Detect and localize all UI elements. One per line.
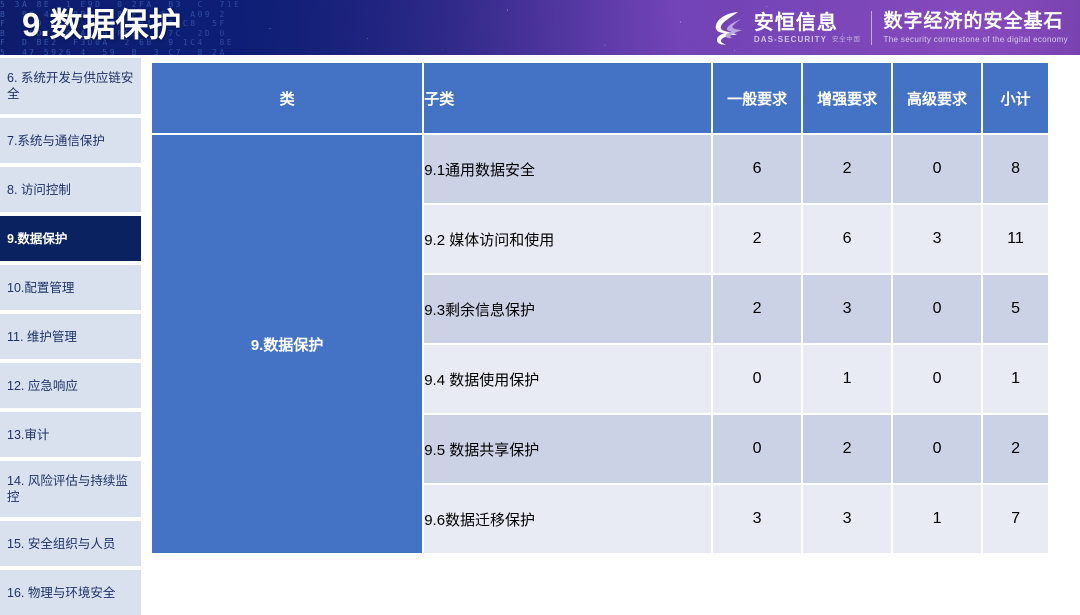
- table-header: 类 子类 一般要求 增强要求 高级要求 小计: [152, 63, 1048, 133]
- brand-slogan-en: The security cornerstone of the digital …: [883, 34, 1068, 45]
- cell-enhanced: 2: [803, 415, 891, 483]
- sidebar-nav: 6. 系统开发与供应链安全7.系统与通信保护8. 访问控制9.数据保护10.配置…: [0, 58, 141, 601]
- sidebar-item-label: 15. 安全组织与人员: [7, 536, 115, 552]
- sidebar-item-8[interactable]: 8. 访问控制: [0, 167, 141, 212]
- column-header-subtotal: 小计: [983, 63, 1048, 133]
- cell-enhanced: 1: [803, 345, 891, 413]
- sidebar-item-label: 9.数据保护: [7, 231, 67, 247]
- cell-enhanced: 3: [803, 485, 891, 553]
- brand-name-en: DAS-SECURITY: [754, 35, 827, 45]
- cell-advanced: 0: [893, 275, 981, 343]
- cell-general: 0: [713, 345, 801, 413]
- sidebar-item-label: 10.配置管理: [7, 280, 74, 296]
- cell-general: 0: [713, 415, 801, 483]
- das-security-logo-icon: [711, 10, 745, 46]
- table-row: 9.数据保护9.1通用数据安全6208: [152, 135, 1048, 203]
- cell-subcategory: 9.5 数据共享保护: [424, 415, 711, 483]
- cell-subtotal: 7: [983, 485, 1048, 553]
- category-merged-cell: 9.数据保护: [152, 135, 422, 553]
- brand-subtitle-row: DAS-SECURITY 安全中国: [754, 35, 861, 45]
- sidebar-item-label: 7.系统与通信保护: [7, 133, 105, 149]
- cell-general: 6: [713, 135, 801, 203]
- sidebar-item-label: 6. 系统开发与供应链安全: [7, 70, 134, 102]
- table-header-row: 类 子类 一般要求 增强要求 高级要求 小计: [152, 63, 1048, 133]
- column-header-enhanced: 增强要求: [803, 63, 891, 133]
- sidebar-item-13[interactable]: 13.审计: [0, 412, 141, 457]
- brand-name-block: 安恒信息 DAS-SECURITY 安全中国: [754, 12, 861, 45]
- brand-lockup: 安恒信息 DAS-SECURITY 安全中国 数字经济的安全基石 The sec…: [711, 7, 1068, 49]
- sidebar-item-label: 14. 风险评估与持续监控: [7, 473, 134, 505]
- sidebar-item-9[interactable]: 9.数据保护: [0, 216, 141, 261]
- sidebar-item-label: 8. 访问控制: [7, 182, 71, 198]
- cell-advanced: 0: [893, 135, 981, 203]
- column-header-subcategory: 子类: [424, 63, 711, 133]
- column-header-advanced: 高级要求: [893, 63, 981, 133]
- brand-divider: [871, 11, 872, 45]
- sidebar-item-14[interactable]: 14. 风险评估与持续监控: [0, 461, 141, 517]
- sidebar-item-16[interactable]: 16. 物理与环境安全: [0, 570, 141, 615]
- brand-name-cn: 安恒信息: [754, 12, 861, 34]
- cell-advanced: 0: [893, 415, 981, 483]
- cell-subcategory: 9.1通用数据安全: [424, 135, 711, 203]
- cell-subcategory: 9.6数据迁移保护: [424, 485, 711, 553]
- cell-subcategory: 9.2 媒体访问和使用: [424, 205, 711, 273]
- sidebar-item-12[interactable]: 12. 应急响应: [0, 363, 141, 408]
- cell-enhanced: 6: [803, 205, 891, 273]
- sidebar-item-label: 11. 维护管理: [7, 329, 77, 345]
- cell-subtotal: 8: [983, 135, 1048, 203]
- sidebar-item-label: 16. 物理与环境安全: [7, 585, 115, 601]
- cell-advanced: 0: [893, 345, 981, 413]
- cell-subtotal: 11: [983, 205, 1048, 273]
- sidebar-item-6[interactable]: 6. 系统开发与供应链安全: [0, 58, 141, 114]
- cell-advanced: 3: [893, 205, 981, 273]
- table-body: 9.数据保护9.1通用数据安全62089.2 媒体访问和使用263119.3剩余…: [152, 135, 1048, 553]
- cell-subcategory: 9.4 数据使用保护: [424, 345, 711, 413]
- cell-general: 2: [713, 275, 801, 343]
- cell-subtotal: 5: [983, 275, 1048, 343]
- brand-slogan-block: 数字经济的安全基石 The security cornerstone of th…: [883, 11, 1068, 45]
- page-title: 9.数据保护: [22, 2, 182, 48]
- sidebar-item-15[interactable]: 15. 安全组织与人员: [0, 521, 141, 566]
- cell-subtotal: 2: [983, 415, 1048, 483]
- brand-slogan-cn: 数字经济的安全基石: [883, 11, 1068, 33]
- requirements-table: 类 子类 一般要求 增强要求 高级要求 小计 9.数据保护9.1通用数据安全62…: [150, 61, 1050, 555]
- column-header-category: 类: [152, 63, 422, 133]
- slide-header-banner: 5 3A 8E 1 E9D 0 2FA B3 C 71E B 9C 4D 0BB…: [0, 0, 1080, 55]
- cell-subcategory: 9.3剩余信息保护: [424, 275, 711, 343]
- sidebar-item-7[interactable]: 7.系统与通信保护: [0, 118, 141, 163]
- cell-enhanced: 2: [803, 135, 891, 203]
- sidebar-item-label: 13.审计: [7, 427, 49, 443]
- cell-advanced: 1: [893, 485, 981, 553]
- brand-name-cn-small: 安全中国: [832, 35, 860, 44]
- sidebar-item-11[interactable]: 11. 维护管理: [0, 314, 141, 359]
- cell-general: 3: [713, 485, 801, 553]
- sidebar-item-label: 12. 应急响应: [7, 378, 78, 394]
- cell-enhanced: 3: [803, 275, 891, 343]
- cell-general: 2: [713, 205, 801, 273]
- sidebar-item-10[interactable]: 10.配置管理: [0, 265, 141, 310]
- column-header-general: 一般要求: [713, 63, 801, 133]
- cell-subtotal: 1: [983, 345, 1048, 413]
